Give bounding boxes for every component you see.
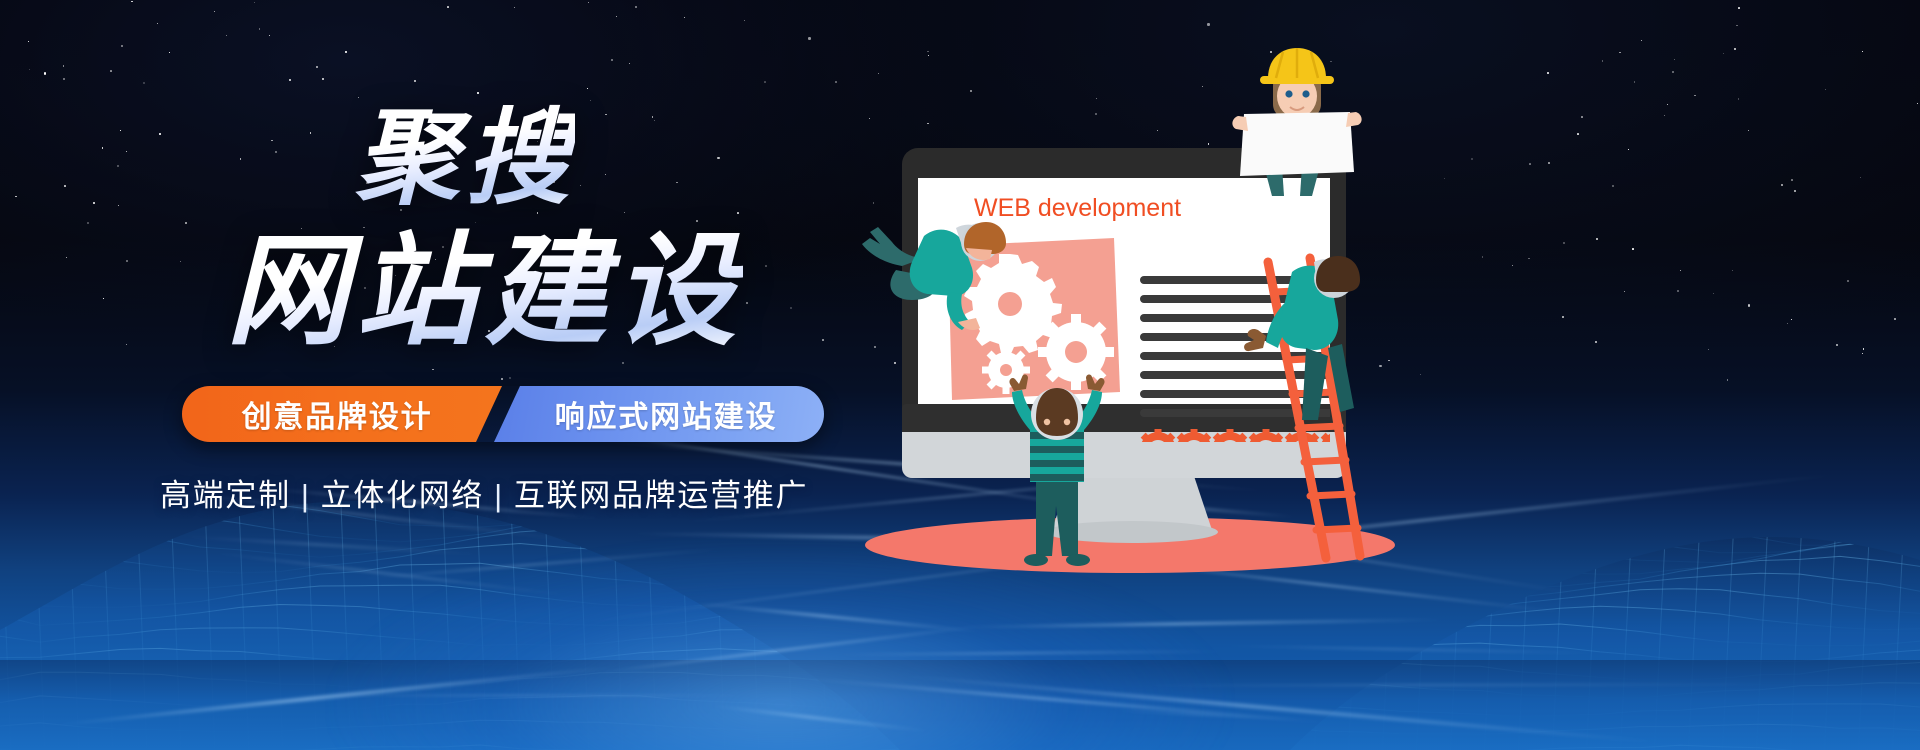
headline: 网站建设 xyxy=(226,227,743,356)
tagline-part-2: 立体化网络 xyxy=(321,478,485,513)
badge-segment-creative[interactable]: 创意品牌设计 xyxy=(182,386,502,442)
illustration: WEB development xyxy=(840,0,1920,750)
badge-right-label: 响应式网站建设 xyxy=(555,392,778,436)
tagline-part-3: 互联网品牌运营推广 xyxy=(514,478,808,513)
badge-segment-responsive[interactable]: 响应式网站建设 xyxy=(494,386,824,442)
tagline: 高端定制|立体化网络|互联网品牌运营推广 xyxy=(160,470,860,515)
tagline-separator-2: | xyxy=(484,478,514,513)
illustration-svg: WEB development xyxy=(840,0,1920,750)
tagline-part-1: 高端定制 xyxy=(160,478,291,513)
banner-root: 聚搜 网站建设 创意品牌设计 响应式网站建设 高端定制|立体化网络|互联网品牌运… xyxy=(0,0,1920,750)
screen-title: WEB development xyxy=(974,194,1181,222)
brand-title: 聚搜 xyxy=(355,104,575,214)
banner-copy: 聚搜 网站建设 创意品牌设计 响应式网站建设 高端定制|立体化网络|互联网品牌运… xyxy=(0,0,880,750)
tagline-separator-1: | xyxy=(291,478,321,513)
service-badge[interactable]: 创意品牌设计 响应式网站建设 xyxy=(182,386,824,442)
badge-left-label: 创意品牌设计 xyxy=(242,392,433,436)
